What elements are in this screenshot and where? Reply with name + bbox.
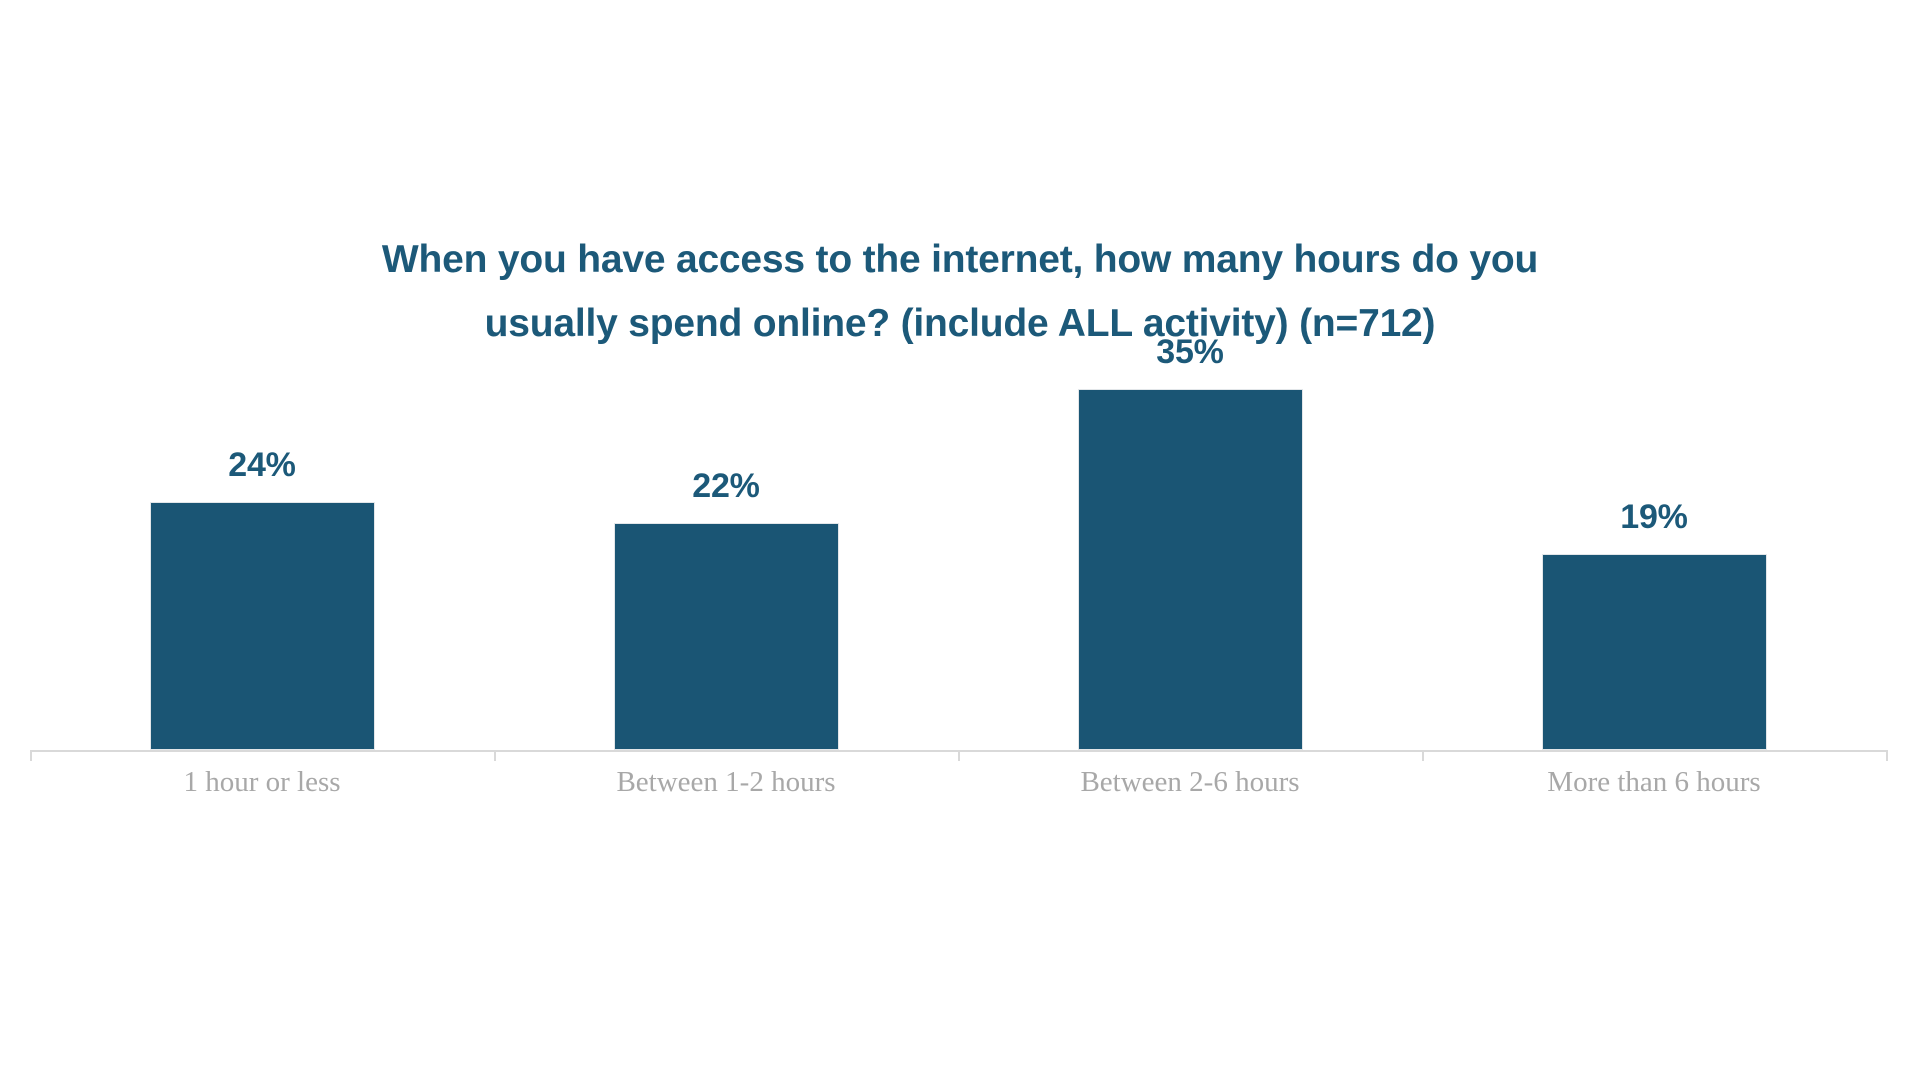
bar-chart: When you have access to the internet, ho… <box>0 0 1920 1080</box>
bar-more-than-6-hours[interactable] <box>1542 554 1767 750</box>
category-label-1-hour-or-less: 1 hour or less <box>30 766 494 799</box>
x-axis-tick <box>30 750 32 761</box>
data-label-more-than-6-hours: 19% <box>1534 498 1774 537</box>
x-axis-tick <box>1422 750 1424 761</box>
data-label-between-2-6-hours: 35% <box>1070 333 1310 372</box>
x-axis-tick <box>494 750 496 761</box>
x-axis-tick <box>1886 750 1888 761</box>
chart-title-line-1: When you have access to the internet, ho… <box>0 228 1920 292</box>
x-axis-tick <box>958 750 960 761</box>
category-label-between-1-2-hours: Between 1-2 hours <box>494 766 958 799</box>
chart-title: When you have access to the internet, ho… <box>0 228 1920 356</box>
chart-title-line-2: usually spend online? (include ALL activ… <box>0 292 1920 356</box>
data-label-1-hour-or-less: 24% <box>142 446 382 485</box>
bar-1-hour-or-less[interactable] <box>150 502 375 750</box>
category-label-more-than-6-hours: More than 6 hours <box>1422 766 1886 799</box>
bar-between-1-2-hours[interactable] <box>614 523 839 750</box>
category-label-between-2-6-hours: Between 2-6 hours <box>958 766 1422 799</box>
data-label-between-1-2-hours: 22% <box>606 467 846 506</box>
bar-between-2-6-hours[interactable] <box>1078 389 1303 750</box>
